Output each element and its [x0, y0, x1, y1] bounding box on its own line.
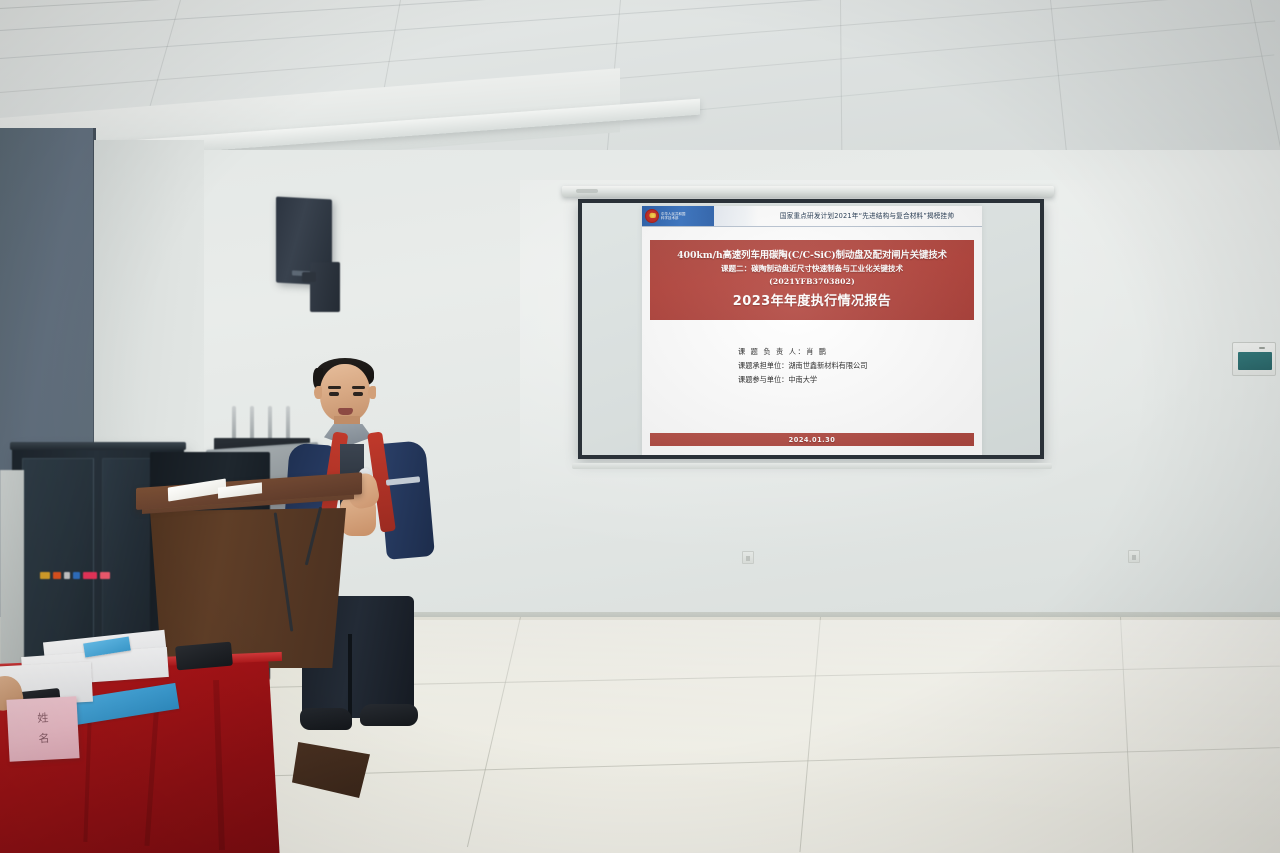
presenter-eye-left	[329, 392, 339, 396]
screen-housing-cap	[576, 189, 598, 193]
floor-reflection	[340, 620, 1280, 853]
ministry-emblem-badge: 中华人民共和国 科学技术部	[642, 206, 714, 226]
panel-display	[1238, 352, 1272, 370]
emblem-text-line2: 科学技术部	[661, 216, 685, 220]
panel-led-icon	[1259, 347, 1265, 349]
name-placard: 姓 名	[6, 696, 79, 762]
table-device	[175, 642, 233, 671]
presenter-eye-right	[353, 392, 363, 396]
rack-led	[83, 572, 97, 579]
presenter-brow-left	[328, 386, 341, 389]
slide-title-line2: 课题二：碳陶制动盘近尺寸快速制备与工业化关键技术	[721, 263, 903, 275]
presenter-brow-right	[352, 386, 365, 389]
meta-host-unit: 课题承担单位：湖南世鑫新材料有限公司	[738, 360, 982, 371]
antenna-rod	[250, 406, 254, 442]
slide-report-title: 2023年年度执行情况报告	[733, 293, 891, 311]
slide-date-bar: 2024.01.30	[650, 433, 974, 446]
speaker-mount-bracket	[310, 262, 340, 312]
projection-screen: 中华人民共和国 科学技术部 国家重点研发计划2021年“先进结构与复合材料”揭榜…	[578, 199, 1044, 459]
slide-header: 中华人民共和国 科学技术部 国家重点研发计划2021年“先进结构与复合材料”揭榜…	[642, 206, 982, 227]
wall-control-panel[interactable]	[1232, 342, 1276, 376]
rack-led	[100, 572, 110, 579]
slide-title-line1: 400km/h高速列车用碳陶(C/C-SiC)制动盘及配对闸片关键技术	[677, 249, 947, 262]
projected-slide: 中华人民共和国 科学技术部 国家重点研发计划2021年“先进结构与复合材料”揭榜…	[642, 206, 982, 455]
rack-status-leds	[40, 570, 132, 580]
national-emblem-icon	[645, 209, 659, 223]
slide-banner-title: 国家重点研发计划2021年“先进结构与复合材料”揭榜挂帅	[758, 211, 982, 221]
conference-room-scene: 中华人民共和国 科学技术部 国家重点研发计划2021年“先进结构与复合材料”揭榜…	[0, 0, 1280, 853]
slide-title-block: 400km/h高速列车用碳陶(C/C-SiC)制动盘及配对闸片关键技术 课题二：…	[650, 240, 974, 320]
slide-spacer-bottom	[642, 452, 982, 455]
presenter-ear-right	[368, 386, 376, 399]
screen-bottom-rail	[572, 463, 1052, 469]
screen-housing	[562, 186, 1054, 197]
screen-surface: 中华人民共和国 科学技术部 国家重点研发计划2021年“先进结构与复合材料”揭榜…	[582, 203, 1040, 455]
rack-led	[73, 572, 80, 579]
slide-spacer-top	[642, 227, 982, 240]
rack-top-cap	[10, 442, 186, 450]
rack-led	[40, 572, 50, 579]
meta-partner-unit: 课题参与单位：中南大学	[738, 374, 982, 385]
presenter-ear-left	[314, 386, 322, 399]
name-placard-text: 姓 名	[36, 711, 51, 746]
slide-meta-block: 课 题 负 责 人：肖 鹏 课题承担单位：湖南世鑫新材料有限公司 课题参与单位：…	[642, 320, 982, 433]
antenna-rod	[268, 406, 272, 442]
slide-project-code: (2021YFB3703802)	[769, 276, 855, 287]
antenna-rod	[232, 406, 236, 442]
rack-led	[64, 572, 70, 579]
rack-led	[53, 572, 61, 579]
wall-outlet[interactable]	[1128, 550, 1140, 563]
header-gradient	[714, 206, 758, 226]
podium-front-panel	[150, 508, 346, 668]
presenter-shoe-right	[360, 704, 418, 726]
wall-outlet[interactable]	[742, 551, 754, 564]
meta-project-leader: 课 题 负 责 人：肖 鹏	[738, 346, 982, 357]
presenter-mouth	[338, 408, 353, 415]
presenter-shoe-left	[300, 708, 352, 730]
